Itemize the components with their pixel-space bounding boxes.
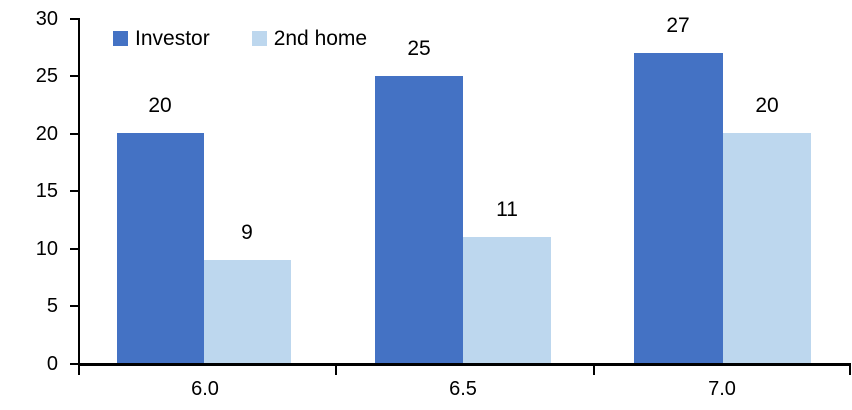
x-axis-label-2: 7.0 xyxy=(662,379,782,399)
x-tick-mark-2 xyxy=(593,366,595,375)
data-label-second-home-6.5: 11 xyxy=(447,199,567,220)
plot-area: 20 9 25 11 27 20 xyxy=(0,0,852,410)
bar-investor-6.0 xyxy=(117,133,204,364)
chart-legend: Investor 2nd home xyxy=(113,28,367,49)
legend-label-second-home: 2nd home xyxy=(274,28,367,49)
data-label-second-home-6.0: 9 xyxy=(187,222,307,243)
bar-second-home-7.0 xyxy=(723,133,811,364)
x-tick-mark-start xyxy=(78,366,80,375)
x-axis-label-0: 6.0 xyxy=(145,379,265,399)
x-tick-mark-end xyxy=(849,366,851,375)
x-axis-label-1: 6.5 xyxy=(403,379,523,399)
x-tick-mark-1 xyxy=(335,366,337,375)
x-axis-line xyxy=(78,363,851,366)
legend-label-investor: Investor xyxy=(135,28,210,49)
bar-chart: 0 5 10 15 20 25 30 20 9 25 11 27 20 6.0 … xyxy=(0,0,852,410)
data-label-investor-7.0: 27 xyxy=(618,15,738,36)
data-label-second-home-7.0: 20 xyxy=(707,95,827,116)
data-label-investor-6.0: 20 xyxy=(100,95,220,116)
legend-swatch-icon-second-home xyxy=(252,31,267,46)
bar-second-home-6.5 xyxy=(463,237,551,364)
legend-item-investor[interactable]: Investor xyxy=(113,28,210,49)
legend-item-second-home[interactable]: 2nd home xyxy=(252,28,367,49)
data-label-investor-6.5: 25 xyxy=(359,38,479,59)
bar-investor-6.5 xyxy=(375,76,463,364)
legend-swatch-icon-investor xyxy=(113,31,128,46)
bar-second-home-6.0 xyxy=(204,260,291,364)
